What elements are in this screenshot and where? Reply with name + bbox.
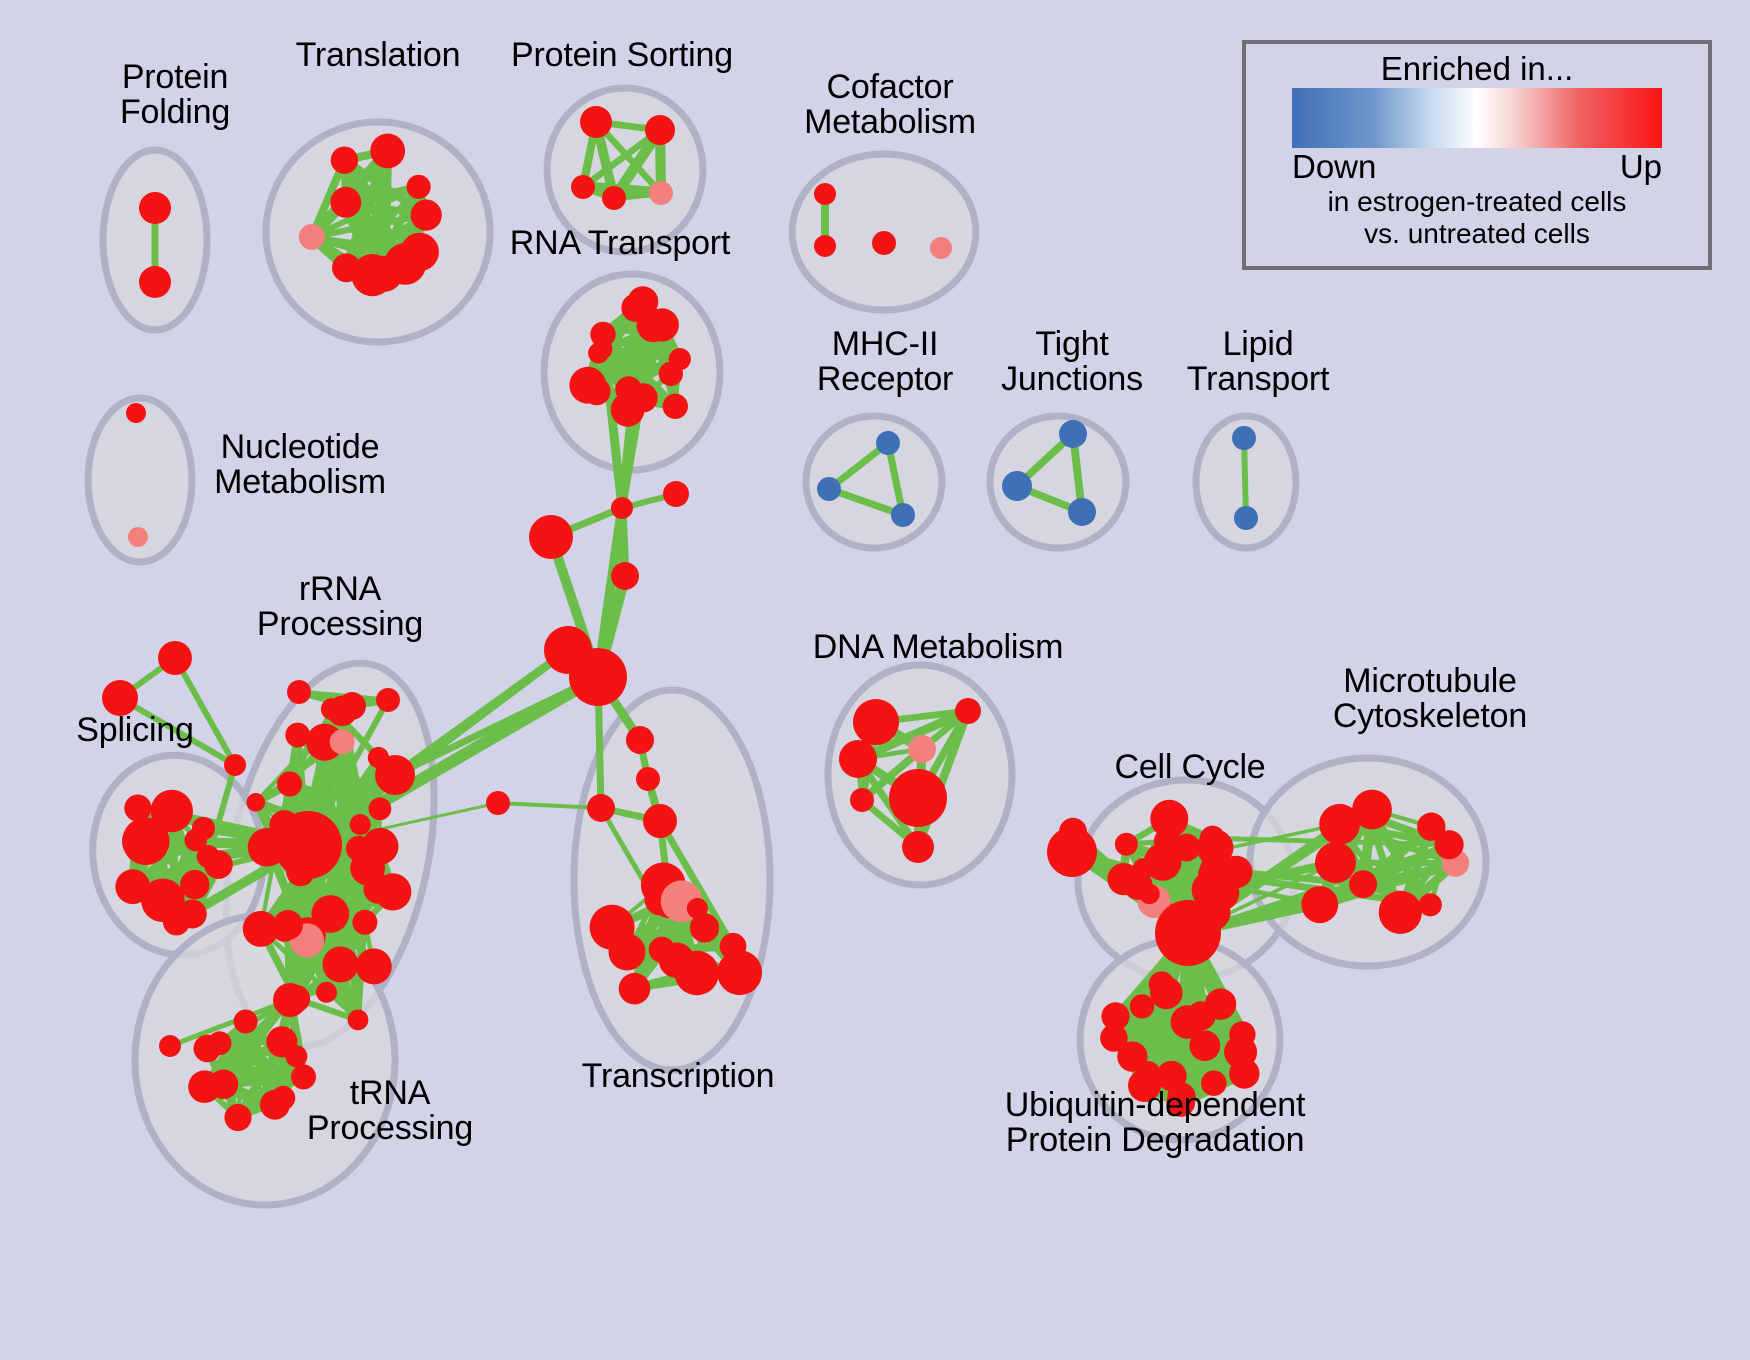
- network-node: [850, 788, 874, 812]
- legend-low-label: Down: [1292, 148, 1376, 186]
- cluster-label-10: Splicing: [55, 713, 215, 748]
- network-node: [260, 1090, 290, 1120]
- network-node: [587, 794, 615, 822]
- network-node: [891, 503, 915, 527]
- network-node: [234, 1010, 258, 1034]
- network-node: [338, 692, 366, 720]
- network-node: [590, 322, 615, 347]
- network-node: [1101, 1002, 1129, 1030]
- network-node: [839, 740, 877, 778]
- network-node: [1150, 977, 1183, 1010]
- network-node: [645, 115, 675, 145]
- network-node: [619, 973, 651, 1005]
- network-node: [352, 910, 377, 935]
- network-node: [571, 175, 595, 199]
- network-node: [1155, 900, 1221, 966]
- network-node: [277, 771, 302, 796]
- network-node: [273, 910, 303, 940]
- network-node: [350, 814, 371, 835]
- cluster-label-6: Tight Junctions: [982, 327, 1162, 398]
- cluster-label-1: Translation: [278, 38, 478, 73]
- cluster-label-13: Cell Cycle: [1100, 750, 1280, 785]
- cluster-label-3: Cofactor Metabolism: [790, 70, 990, 141]
- network-node: [124, 795, 151, 822]
- network-node: [274, 811, 342, 879]
- network-node: [1115, 833, 1138, 856]
- network-node: [814, 235, 836, 257]
- network-node: [615, 376, 642, 403]
- network-node: [580, 106, 612, 138]
- network-node: [411, 200, 442, 231]
- network-node: [224, 754, 246, 776]
- legend-gradient-bar: [1292, 88, 1662, 148]
- network-node: [853, 699, 899, 745]
- network-node: [1232, 426, 1256, 450]
- network-node: [285, 723, 310, 748]
- network-node: [1435, 830, 1464, 859]
- network-node: [1068, 498, 1096, 526]
- network-node: [486, 791, 510, 815]
- cluster-label-12: Microtubule Cytoskeleton: [1300, 664, 1560, 735]
- network-node: [636, 767, 660, 791]
- network-node: [369, 797, 392, 820]
- cluster-label-0: Protein Folding: [85, 60, 265, 131]
- network-node: [151, 790, 193, 832]
- network-node: [908, 735, 936, 763]
- network-node: [626, 726, 654, 754]
- legend-box: Enriched in... Down Up in estrogen-treat…: [1242, 40, 1712, 270]
- network-node: [1150, 800, 1188, 838]
- network-node: [602, 186, 626, 210]
- network-node: [1301, 886, 1338, 923]
- legend-title: Enriched in...: [1292, 50, 1662, 88]
- network-node: [646, 308, 679, 341]
- network-node: [902, 831, 934, 863]
- network-node: [1234, 506, 1258, 530]
- cluster-label-16: Ubiquitin-dependent Protein Degradation: [960, 1088, 1350, 1159]
- network-node: [273, 983, 307, 1017]
- network-node: [316, 982, 337, 1003]
- network-node: [158, 641, 192, 675]
- network-node: [876, 431, 900, 455]
- network-node: [287, 680, 311, 704]
- network-node: [643, 804, 677, 838]
- network-node: [1379, 891, 1422, 934]
- cluster-label-8: Nucleotide Metabolism: [190, 430, 410, 501]
- network-node: [243, 911, 279, 947]
- network-node: [930, 237, 952, 259]
- network-node: [1352, 790, 1392, 830]
- network-node: [1220, 856, 1252, 888]
- network-node: [669, 348, 691, 370]
- network-node: [323, 947, 359, 983]
- network-node: [1229, 1058, 1259, 1088]
- network-node: [370, 134, 405, 169]
- network-node: [1130, 994, 1154, 1018]
- network-node: [1059, 420, 1087, 448]
- network-node: [346, 836, 372, 862]
- network-node: [188, 1070, 221, 1103]
- network-node: [1349, 870, 1377, 898]
- network-node: [649, 937, 675, 963]
- network-node: [180, 870, 209, 899]
- network-node: [159, 1035, 181, 1057]
- network-node: [1002, 471, 1032, 501]
- legend-high-label: Up: [1620, 148, 1662, 186]
- network-node: [356, 948, 392, 984]
- network-node: [197, 845, 220, 868]
- network-node: [1419, 893, 1442, 916]
- cluster-label-7: Lipid Transport: [1168, 327, 1348, 398]
- network-figure: Protein FoldingTranslationProtein Sortin…: [0, 0, 1750, 1360]
- network-node: [375, 755, 415, 795]
- legend-caption-line2: vs. untreated cells: [1292, 218, 1662, 250]
- network-node: [649, 181, 673, 205]
- network-node: [128, 527, 148, 547]
- network-node: [330, 729, 355, 754]
- network-node: [299, 224, 325, 250]
- network-node: [1172, 834, 1200, 862]
- network-node: [224, 1104, 251, 1131]
- network-node: [1059, 818, 1087, 846]
- network-node: [569, 367, 606, 404]
- network-node: [126, 403, 146, 423]
- network-node: [663, 394, 688, 419]
- network-node: [285, 1045, 307, 1067]
- network-node: [717, 950, 762, 995]
- cluster-label-4: RNA Transport: [500, 226, 740, 261]
- network-node: [332, 253, 361, 282]
- network-node: [529, 515, 573, 559]
- network-node: [889, 769, 947, 827]
- network-node: [376, 688, 400, 712]
- network-node: [611, 562, 639, 590]
- network-node: [117, 873, 146, 902]
- network-node: [247, 793, 266, 812]
- cluster-label-2: Protein Sorting: [502, 38, 742, 73]
- cluster-label-15: tRNA Processing: [290, 1076, 490, 1147]
- network-node: [1315, 842, 1356, 883]
- network-node: [611, 497, 633, 519]
- network-edge: [1244, 438, 1246, 518]
- network-node: [139, 266, 171, 298]
- network-node: [872, 231, 896, 255]
- cluster-label-11: DNA Metabolism: [808, 630, 1068, 665]
- network-node: [1189, 1030, 1220, 1061]
- network-node: [817, 477, 841, 501]
- network-node: [569, 648, 627, 706]
- network-node: [331, 147, 358, 174]
- cluster-label-14: Transcription: [568, 1059, 788, 1094]
- network-node: [330, 187, 361, 218]
- network-node: [690, 913, 719, 942]
- network-node: [1205, 988, 1236, 1019]
- network-node: [814, 183, 836, 205]
- network-node: [1229, 1021, 1255, 1047]
- network-node: [590, 905, 635, 950]
- network-node: [955, 698, 981, 724]
- network-node: [407, 175, 431, 199]
- network-node: [139, 192, 171, 224]
- network-node: [348, 1010, 369, 1031]
- network-node: [663, 481, 689, 507]
- legend-caption-line1: in estrogen-treated cells: [1292, 186, 1662, 218]
- network-node: [208, 1031, 232, 1055]
- cluster-label-5: MHC-II Receptor: [790, 327, 980, 398]
- cluster-label-9: rRNA Processing: [240, 572, 440, 643]
